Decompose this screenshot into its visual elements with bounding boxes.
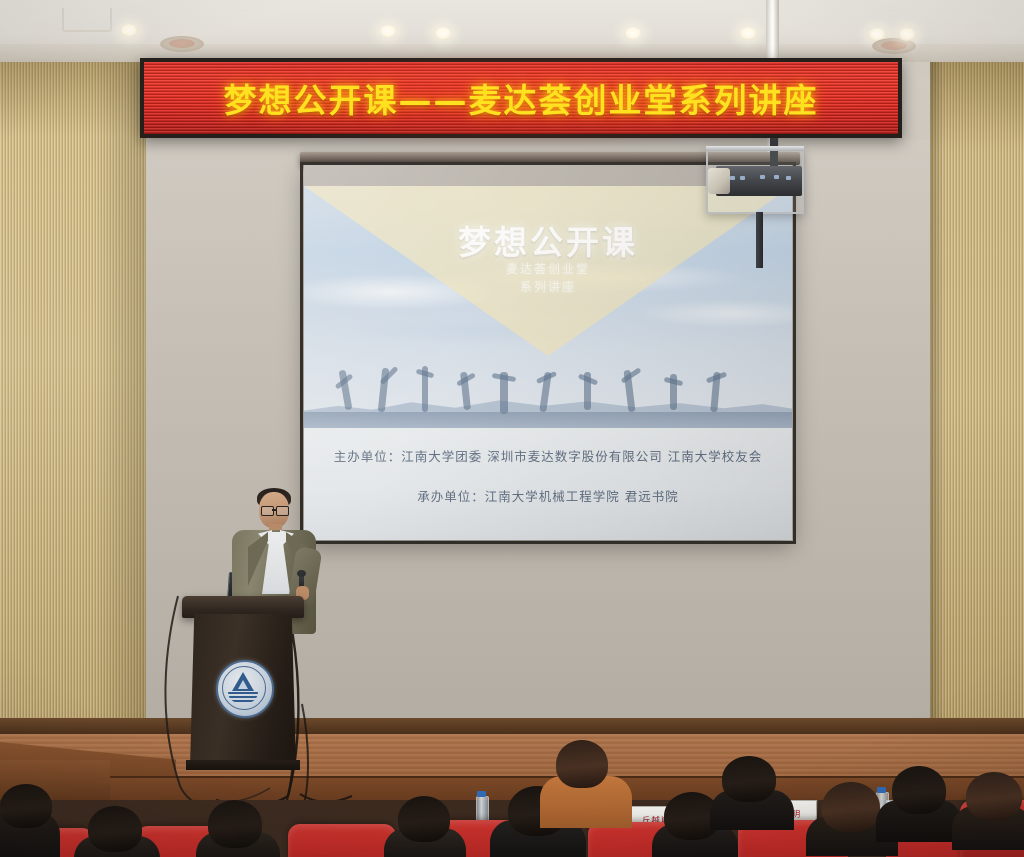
ceiling-round-fixture (160, 36, 204, 52)
bottle-cap (477, 791, 486, 797)
projector-lens (708, 168, 730, 194)
projector-indicator (786, 176, 791, 180)
projector-drop-pole (756, 212, 763, 268)
ceiling-downlight (739, 27, 757, 40)
ceiling-vent (62, 8, 112, 32)
ceiling-downlight (898, 28, 916, 41)
podium-base (186, 760, 300, 770)
projector-indicator (760, 175, 765, 179)
audience-head (208, 800, 262, 848)
eyeglasses-bridge (272, 509, 276, 511)
led-banner-surface: 梦想公开课——麦达荟创业堂系列讲座 (144, 62, 898, 134)
led-banner: 梦想公开课——麦达荟创业堂系列讲座 (140, 58, 902, 138)
audience-head (0, 784, 52, 828)
ceiling (0, 0, 1024, 62)
projector-indicator (730, 176, 735, 180)
ceiling-downlight (120, 24, 138, 37)
projector-cage-top (706, 146, 804, 151)
emblem-triangle-inner (238, 680, 248, 689)
audience-head (966, 772, 1022, 820)
audience-head (398, 796, 450, 842)
ceiling-downlight (624, 27, 642, 40)
projector-indicator (740, 176, 745, 180)
right-acoustic-panel (930, 56, 1024, 734)
eyeglasses-icon (276, 506, 289, 516)
ceiling-downlight (434, 27, 452, 40)
audience-head (556, 740, 608, 788)
audience-head (722, 756, 776, 802)
microphone-head (297, 570, 306, 577)
ceiling-downlight (379, 25, 397, 38)
auditorium-seat (288, 824, 396, 857)
bottle-cap (877, 787, 886, 793)
audience-head (822, 782, 880, 832)
screen-frame (300, 162, 796, 544)
lecture-hall-photo: 梦想公开课——麦达荟创业堂系列讲座 (0, 0, 1024, 857)
projector-indicator (774, 175, 779, 179)
led-banner-text: 梦想公开课——麦达荟创业堂系列讲座 (224, 74, 819, 122)
right-panel-edge (930, 56, 944, 734)
audience-head (88, 806, 142, 852)
eyeglasses-icon (261, 506, 274, 516)
audience-head (892, 766, 946, 814)
